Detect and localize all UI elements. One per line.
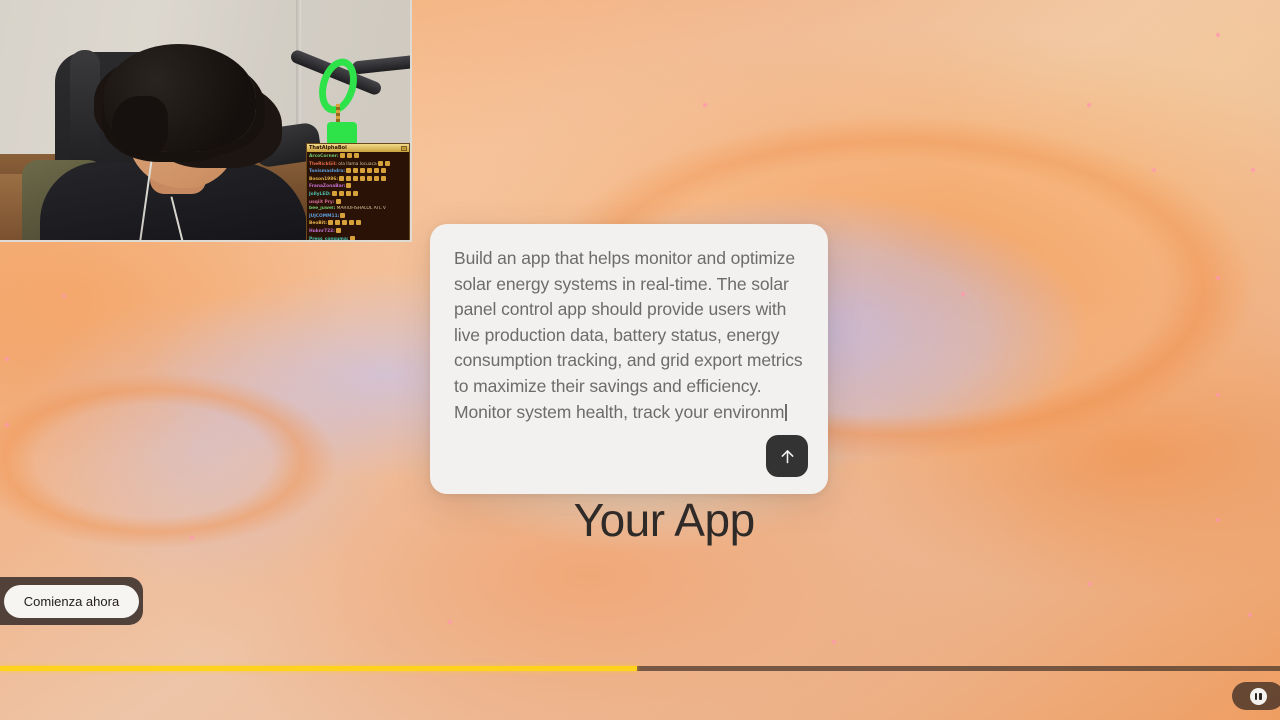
chat-message-row: JUJCOMM11: [309, 213, 407, 221]
sparkle-dot-1 [1087, 103, 1091, 107]
chat-username: FranaZonaBar: [309, 184, 345, 189]
chat-emote-icon [347, 153, 352, 158]
sparkle-dot-3 [1152, 168, 1156, 172]
sparkle-dot-7 [703, 103, 707, 107]
chat-message-row: FranaZonaBar: [309, 183, 407, 191]
chat-emote-icon [342, 220, 347, 225]
chat-username: JUJCOMM11: [309, 214, 339, 219]
chat-message-row: usqiit Pry: [309, 199, 407, 207]
chat-username: Boson1986: [309, 177, 338, 182]
chat-message-row: TheRickGil: ola llama locuaca [309, 161, 407, 169]
chat-message-row: Tonismashdra: [309, 168, 407, 176]
cta-container: Comienza ahora [0, 577, 143, 625]
chat-emote-icon [339, 176, 344, 181]
chat-message-row: ArcoCorner: [309, 153, 407, 161]
chat-username: JollyLED: [309, 192, 331, 197]
chat-emote-icon [346, 176, 351, 181]
video-progress-track[interactable] [0, 666, 1280, 671]
sparkle-dot-5 [961, 292, 965, 296]
chat-emote-icon [354, 153, 359, 158]
chat-title: ThatAlphaBoi [309, 144, 347, 152]
chat-emote-icon [340, 153, 345, 158]
webcam-person-hair [104, 44, 256, 152]
chat-username: ArcoCorner: [309, 154, 339, 159]
chat-message-row: Huknr722: [309, 228, 407, 236]
sparkle-dot-9 [62, 294, 66, 298]
chat-message-row: Press_consuma: [309, 236, 407, 242]
chat-emote-icon [374, 168, 379, 173]
chat-emote-icon [381, 176, 386, 181]
chat-emote-icon [367, 168, 372, 173]
prompt-textarea[interactable]: Build an app that helps monitor and opti… [454, 246, 804, 425]
chat-emote-icon [336, 199, 341, 204]
prompt-text-value: Build an app that helps monitor and opti… [454, 248, 807, 422]
chat-titlebar: ThatAlphaBoi – [307, 144, 409, 152]
chat-message-row: Boson1986: [309, 176, 407, 184]
chat-emote-icon [328, 220, 333, 225]
chat-username: BeoBit: [309, 221, 327, 226]
arrow-up-icon [778, 447, 797, 466]
pause-icon [1250, 688, 1267, 705]
video-progress-fill [0, 666, 637, 671]
chat-emote-icon [353, 168, 358, 173]
chat-emote-icon [381, 168, 386, 173]
chat-emote-icon [346, 168, 351, 173]
chat-message-row: JollyLED: [309, 191, 407, 199]
chat-emote-icon [335, 220, 340, 225]
sparkle-dot-15 [448, 620, 452, 624]
text-caret [785, 404, 787, 421]
chat-message-row: bee_juwel: MARIOFISHALOL ATL V [309, 206, 407, 213]
chat-emote-icon [360, 176, 365, 181]
chat-emote-icon [385, 161, 390, 166]
webcam-overlay: ThatAlphaBoi – ArcoCorner:TheRickGil: ol… [0, 0, 412, 242]
chat-minimize-button[interactable]: – [401, 146, 407, 151]
chat-username: usqiit Pry: [309, 200, 335, 205]
chat-emote-icon [360, 168, 365, 173]
chat-message-text: ola llama locuaca [337, 162, 377, 167]
prompt-card[interactable]: Build an app that helps monitor and opti… [430, 224, 828, 494]
sparkle-dot-17 [1248, 613, 1252, 617]
chat-emote-icon [367, 176, 372, 181]
chat-emote-icon [346, 191, 351, 196]
chat-emote-icon [356, 220, 361, 225]
sparkle-dot-2 [1251, 168, 1255, 172]
chat-emote-icon [353, 176, 358, 181]
chat-username: Huknr722: [309, 229, 335, 234]
chat-emote-icon [349, 220, 354, 225]
sparkle-dot-14 [832, 640, 836, 644]
sparkle-dot-4 [1216, 276, 1220, 280]
chat-username: Press_consuma: [309, 237, 349, 242]
chat-emote-icon [378, 161, 383, 166]
chat-emote-icon [374, 176, 379, 181]
chat-username: TheRickGil: [309, 162, 337, 167]
chat-username: bee_juwel: [309, 206, 335, 211]
chat-emote-icon [332, 191, 337, 196]
sparkle-dot-0 [1216, 33, 1220, 37]
pause-bar-right [1259, 693, 1262, 700]
chat-emote-icon [350, 236, 355, 241]
webcam-chair-post [70, 50, 100, 170]
chat-emote-icon [346, 183, 351, 188]
pause-bar-left [1255, 693, 1258, 700]
headline-right-word: Your App [574, 494, 755, 546]
start-now-button[interactable]: Comienza ahora [4, 585, 139, 618]
chat-message-row: BeoBit: [309, 220, 407, 228]
chat-username: Tonismashdra: [309, 169, 345, 174]
chat-emote-icon [336, 228, 341, 233]
chat-emote-icon [340, 213, 345, 218]
chat-message-text: MARIOFISHALOL ATL V [335, 206, 386, 211]
video-stage: Building Your App Build an app that help… [0, 0, 1280, 720]
chat-emote-icon [353, 191, 358, 196]
chat-overlay-window[interactable]: ThatAlphaBoi – ArcoCorner:TheRickGil: ol… [306, 143, 410, 242]
chat-message-list: ArcoCorner:TheRickGil: ola llama locuaca… [307, 152, 409, 242]
chat-emote-icon [339, 191, 344, 196]
pause-button[interactable] [1232, 682, 1280, 710]
send-prompt-button[interactable] [766, 435, 808, 477]
